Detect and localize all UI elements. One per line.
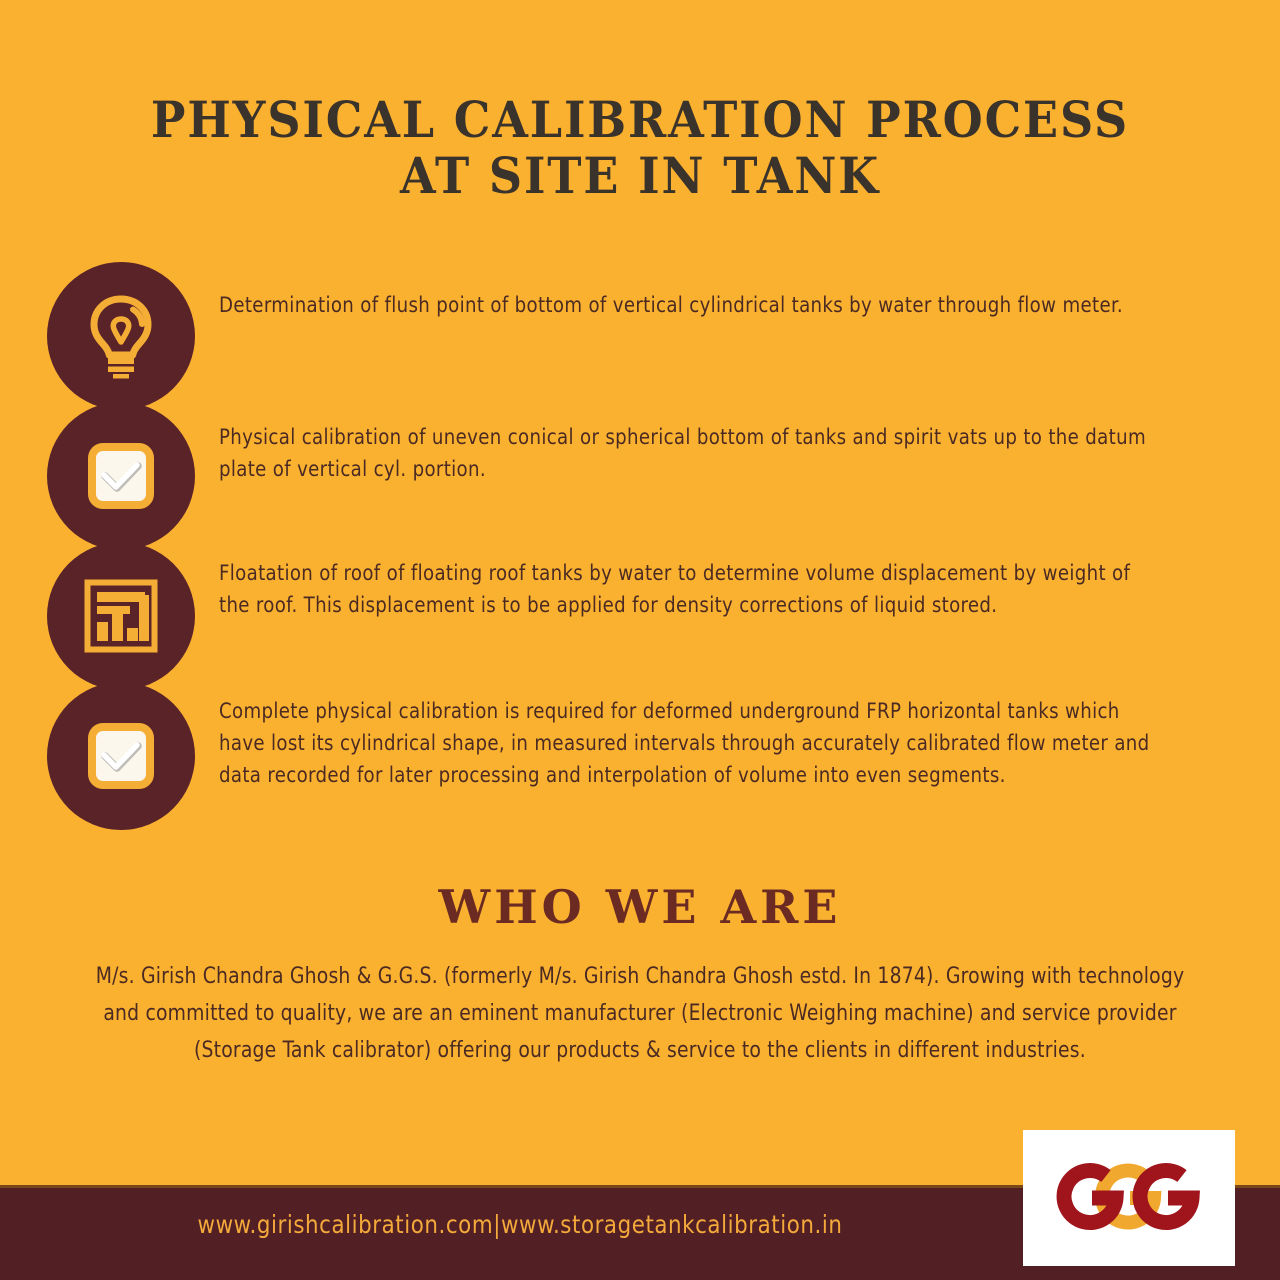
step-icon-circle-4	[47, 682, 195, 830]
checkbox-check-icon	[88, 443, 154, 509]
who-we-are-heading: WHO WE ARE	[0, 880, 1280, 934]
step-icon-circle-1	[47, 262, 195, 410]
footer-websites[interactable]: www.girishcalibration.com|www.storagetan…	[26, 1210, 1014, 1239]
title-line-2: AT SITE IN TANK	[51, 148, 1229, 204]
checkbox-check-icon	[88, 723, 154, 789]
step-text-3: Floatation of roof of floating roof tank…	[219, 558, 1159, 622]
infographic-poster: PHYSICAL CALIBRATION PROCESS AT SITE IN …	[0, 0, 1280, 1280]
step-icon-circle-3	[47, 542, 195, 690]
who-we-are-body: M/s. Girish Chandra Ghosh & G.G.S. (form…	[81, 958, 1198, 1069]
step-text-2: Physical calibration of uneven conical o…	[219, 422, 1159, 486]
step-text-4: Complete physical calibration is require…	[219, 696, 1159, 792]
lightbulb-icon	[83, 293, 159, 379]
bar-chart-report-icon	[83, 578, 159, 654]
steps-list: Determination of flush point of bottom o…	[0, 262, 1280, 842]
page-title: PHYSICAL CALIBRATION PROCESS AT SITE IN …	[0, 92, 1280, 204]
title-line-1: PHYSICAL CALIBRATION PROCESS	[51, 92, 1229, 148]
step-icon-circle-2	[47, 402, 195, 550]
step-text-1: Determination of flush point of bottom o…	[219, 290, 1159, 322]
step-icon-column	[47, 262, 195, 842]
ggg-logo-icon	[1044, 1150, 1214, 1246]
company-logo	[1023, 1130, 1235, 1266]
